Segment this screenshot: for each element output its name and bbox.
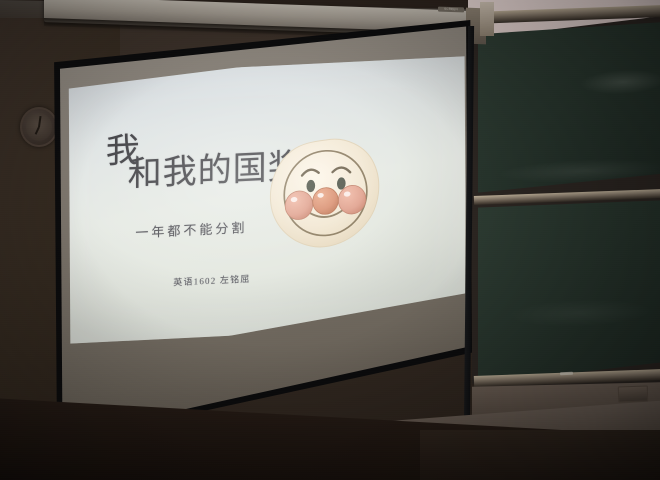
slide-subtitle: 一年都不能分割 [135,217,247,241]
chalkboard-eraser [618,385,649,402]
classroom-photo: SCREEN 我 和我的国奖 一年都不能分割 英语1602 左铭屈 [0,0,660,480]
anpanman-face-icon [266,132,384,256]
presentation-slide: 我 和我的国奖 一年都不能分割 英语1602 左铭屈 [61,56,466,344]
blackboard-panel-lower [478,200,660,390]
floor-right [420,430,660,480]
clock-face [26,113,52,141]
roller-mount-bracket [480,2,494,36]
wall-clock-icon [20,107,58,147]
clock-hour-hand [35,127,40,135]
slide-author-line: 英语1602 左铭屈 [173,272,250,289]
projector-hotspot [61,56,466,344]
roller-brand-badge: SCREEN [438,7,464,13]
chalk-stick [560,372,573,375]
chalk-smudge [579,68,660,96]
chalk-smudge [510,298,651,329]
clock-minute-hand [38,116,41,127]
